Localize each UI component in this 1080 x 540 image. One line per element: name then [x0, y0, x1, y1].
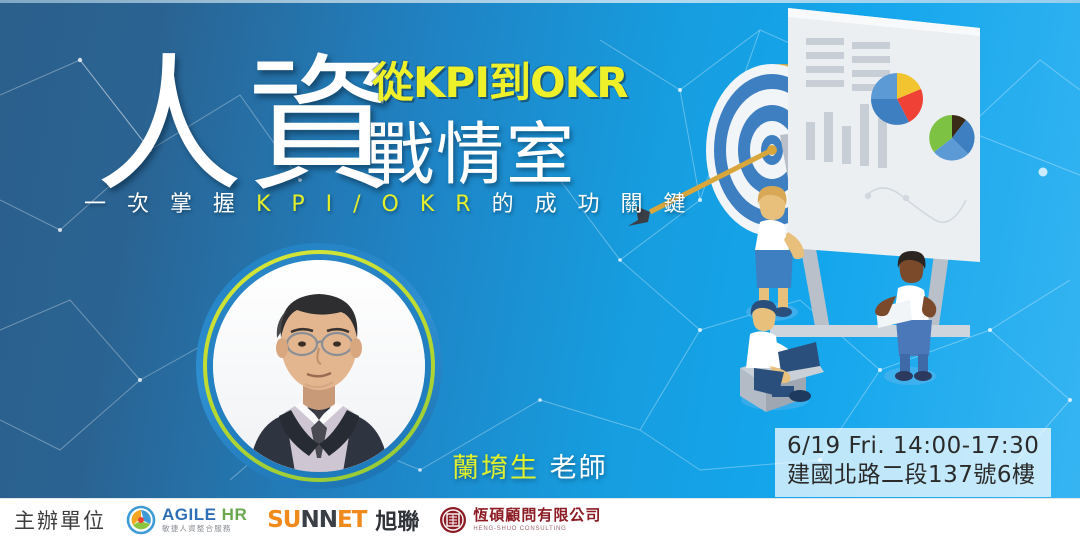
heng-shuo-mark-icon	[439, 506, 467, 534]
heng-shuo-name-en: HENG-SHUO CONSULTING	[473, 526, 601, 532]
organizer-label: 主辦單位	[14, 505, 106, 535]
agile-hr-suffix: HR	[222, 505, 248, 524]
sunnet-name-cn: 旭聯	[375, 504, 419, 536]
logo-sunnet[interactable]: SUNNET 旭聯	[267, 504, 419, 536]
speaker-name-label: 蘭堉生 老師	[452, 455, 608, 482]
agile-hr-mark-icon	[126, 505, 156, 535]
speaker-name: 蘭堉生	[452, 453, 539, 484]
event-venue: 建國北路二段137號6樓	[787, 461, 1039, 490]
title-block: 人資 從KPI到OKR 戰情室 一 次 掌 握 K P I / O K R 的 …	[0, 0, 640, 250]
footer-bar: 主辦單位 AGILE HR 敏捷人資整合服務 SUNNET 旭聯	[0, 498, 1080, 540]
sunnet-part-b: NN	[300, 507, 337, 533]
speaker-portrait-frame	[196, 243, 442, 489]
poster-canvas: 人資 從KPI到OKR 戰情室 一 次 掌 握 K P I / O K R 的 …	[0, 0, 1080, 540]
speaker-title: 老師	[539, 453, 608, 484]
page-title-main: 人資	[95, 52, 399, 200]
top-accent-line	[0, 0, 1080, 3]
tagline: 一 次 掌 握 K P I / O K R 的 成 功 關 鍵	[84, 194, 693, 216]
sunnet-part-c: ET	[337, 507, 366, 533]
agile-hr-name: AGILE	[162, 505, 222, 524]
board-pie-chart-1	[871, 73, 923, 125]
event-info-box: 6/19 Fri. 14:00-17:30 建國北路二段137號6樓	[775, 428, 1051, 497]
tagline-suffix: 的 成 功 關 鍵	[478, 192, 693, 217]
board-pie-chart-2	[929, 115, 974, 161]
sunnet-part-a: SU	[267, 507, 300, 533]
speaker-photo	[213, 260, 425, 472]
logo-heng-shuo[interactable]: 恆碩顧問有限公司 HENG-SHUO CONSULTING	[439, 506, 601, 534]
person-standing-man	[875, 251, 936, 385]
event-datetime: 6/19 Fri. 14:00-17:30	[787, 432, 1039, 461]
tagline-prefix: 一 次 掌 握	[84, 192, 256, 217]
heng-shuo-name: 恆碩顧問有限公司	[473, 508, 601, 523]
logo-agile-hr[interactable]: AGILE HR 敏捷人資整合服務	[126, 505, 247, 535]
tagline-highlight: K P I / O K R	[256, 192, 478, 217]
title-badge-kpi-okr: 從KPI到OKR	[372, 62, 628, 104]
agile-hr-tagline: 敏捷人資整合服務	[162, 525, 247, 533]
whiteboard	[788, 8, 980, 262]
page-title-second: 戰情室	[366, 122, 576, 190]
